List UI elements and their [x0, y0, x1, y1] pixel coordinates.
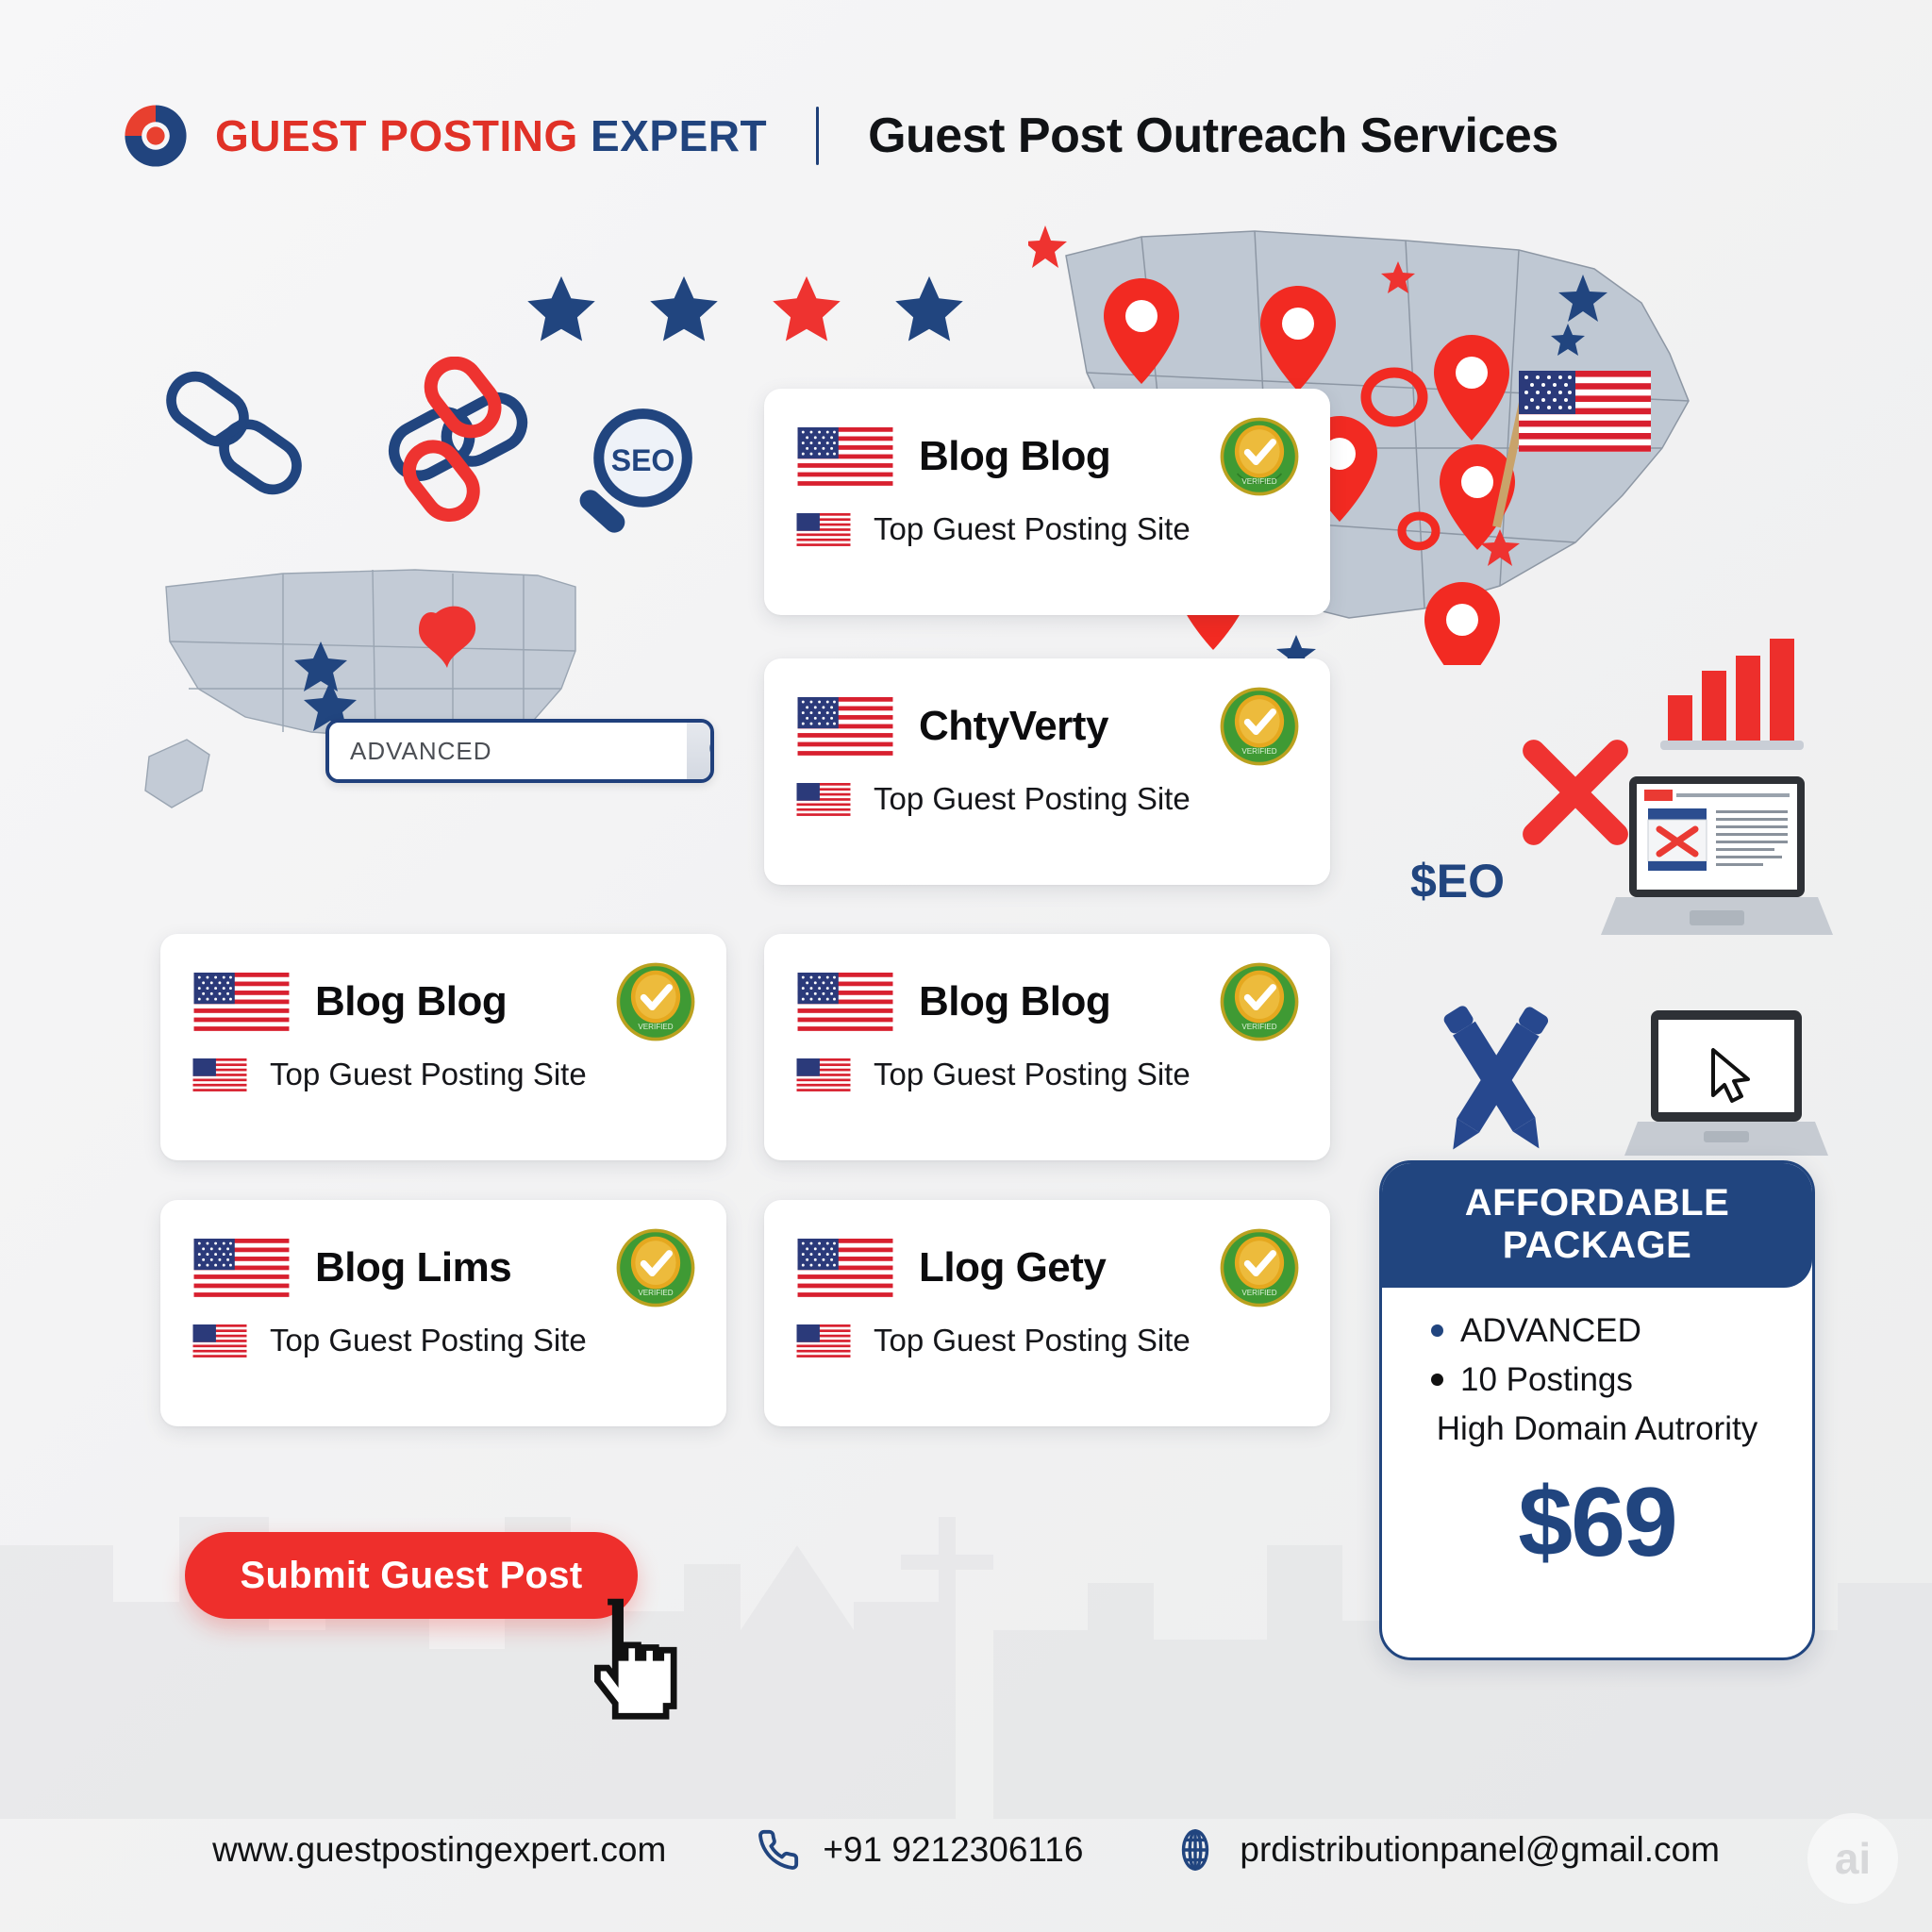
site-card-footer: Top Guest Posting Site	[796, 781, 1302, 817]
usa-flag-icon	[796, 1239, 894, 1297]
site-card-footer: Top Guest Posting Site	[192, 1057, 698, 1092]
star-1-icon	[525, 272, 598, 345]
brand-word-secondary: EXPERT	[591, 111, 767, 160]
laptop-cursor-icon	[1623, 1005, 1830, 1174]
usa-flag-icon	[796, 697, 894, 756]
laptop-error-icon	[1599, 769, 1835, 958]
hand-pointer-cursor-icon	[574, 1594, 677, 1726]
site-card[interactable]: Blog Blog VERIFIED Top Guest Posting Sit…	[160, 934, 726, 1160]
site-name: Blog Lims	[315, 1244, 511, 1291]
site-subtitle: Top Guest Posting Site	[874, 1323, 1191, 1358]
footer-website[interactable]: www.guestpostingexpert.com	[212, 1830, 666, 1870]
site-card-header: Blog Blog VERIFIED	[192, 958, 698, 1045]
submit-guest-post-button[interactable]: Submit Guest Post	[185, 1532, 638, 1619]
site-subtitle: Top Guest Posting Site	[874, 511, 1191, 547]
package-price: $69	[1410, 1467, 1784, 1579]
brand-wordmark: GUEST POSTING EXPERT	[215, 114, 767, 158]
verified-badge-icon: VERIFIED	[1217, 1224, 1302, 1311]
svg-text:VERIFIED: VERIFIED	[1241, 747, 1276, 756]
page-title: Guest Post Outreach Services	[868, 108, 1558, 164]
footer-phone[interactable]: +91 9212306116	[757, 1826, 1083, 1874]
site-name: ChtyVerty	[919, 703, 1108, 750]
site-card-footer: Top Guest Posting Site	[796, 511, 1302, 547]
usa-flag-small-icon	[192, 1324, 247, 1357]
phone-icon	[757, 1826, 800, 1874]
site-subtitle: Top Guest Posting Site	[874, 1057, 1191, 1092]
package-heading-line2: PACKAGE	[1397, 1224, 1797, 1267]
usa-flag-small-icon	[796, 783, 851, 816]
search-icon	[706, 729, 714, 773]
site-card-header: Blog Lims VERIFIED	[192, 1224, 698, 1311]
target-circle-logo-icon	[121, 101, 191, 171]
advanced-search-bar[interactable]	[325, 719, 714, 783]
usa-map-left	[132, 538, 698, 896]
package-body: ADVANCED 10 Postings High Domain Autrori…	[1382, 1288, 1812, 1579]
verified-badge-icon: VERIFIED	[1217, 958, 1302, 1045]
site-subtitle: Top Guest Posting Site	[270, 1057, 587, 1092]
package-feature-item: 10 Postings	[1410, 1361, 1784, 1399]
phone-text: +91 9212306116	[823, 1830, 1083, 1870]
package-feature-label: ADVANCED	[1460, 1312, 1641, 1350]
header-divider	[816, 107, 819, 165]
verified-badge-icon: VERIFIED	[1217, 413, 1302, 500]
svg-text:VERIFIED: VERIFIED	[1241, 1023, 1276, 1031]
site-card-header: Blog Blog VERIFIED	[796, 958, 1302, 1045]
package-feature-list: ADVANCED 10 Postings	[1410, 1312, 1784, 1399]
globe-icon	[1174, 1826, 1217, 1874]
star-2-icon	[647, 272, 721, 345]
crossed-pens-icon	[1406, 986, 1585, 1174]
site-subtitle: Top Guest Posting Site	[270, 1323, 587, 1358]
brand-word-primary: GUEST POSTING	[215, 111, 578, 160]
usa-flag-small-icon	[796, 1058, 851, 1091]
verified-badge-icon: VERIFIED	[613, 1224, 698, 1311]
star-4-icon	[892, 272, 966, 345]
bullet-icon	[1431, 1324, 1443, 1337]
site-card[interactable]: Blog Lims VERIFIED Top Guest Posting Sit…	[160, 1200, 726, 1426]
site-card-footer: Top Guest Posting Site	[192, 1323, 698, 1358]
bar-chart-icon	[1660, 627, 1821, 750]
package-note: High Domain Autrority	[1410, 1410, 1784, 1448]
svg-text:VERIFIED: VERIFIED	[638, 1023, 673, 1031]
site-card[interactable]: Blog Blog VERIFIED Top Guest Posting Sit…	[764, 934, 1330, 1160]
site-name: Blog Blog	[919, 433, 1110, 480]
page-footer: www.guestpostingexpert.com +91 921230611…	[0, 1826, 1932, 1874]
usa-flag-small-icon	[796, 513, 851, 546]
package-heading: AFFORDABLE PACKAGE	[1382, 1163, 1812, 1288]
site-card-header: Blog Blog VERIFIED	[796, 413, 1302, 500]
usa-flag-icon	[192, 1239, 291, 1297]
seo-label: $EO	[1410, 854, 1505, 908]
site-subtitle: Top Guest Posting Site	[874, 781, 1191, 817]
site-card[interactable]: Llog Gety VERIFIED Top Guest Posting Sit…	[764, 1200, 1330, 1426]
email-text: prdistributionpanel@gmail.com	[1240, 1830, 1720, 1870]
footer-email[interactable]: prdistributionpanel@gmail.com	[1174, 1826, 1720, 1874]
site-name: Blog Blog	[919, 978, 1110, 1025]
site-name: Blog Blog	[315, 978, 507, 1025]
verified-badge-icon: VERIFIED	[613, 958, 698, 1045]
svg-text:VERIFIED: VERIFIED	[638, 1289, 673, 1297]
decorative-stars	[525, 272, 966, 345]
package-heading-line1: AFFORDABLE	[1397, 1182, 1797, 1224]
search-button[interactable]	[687, 723, 714, 779]
svg-text:VERIFIED: VERIFIED	[1241, 477, 1276, 486]
usa-flag-icon	[796, 427, 894, 486]
site-card-footer: Top Guest Posting Site	[796, 1057, 1302, 1092]
page-header: GUEST POSTING EXPERT Guest Post Outreach…	[121, 92, 1558, 179]
site-card[interactable]: Blog Blog VERIFIED Top Guest Posting Sit…	[764, 389, 1330, 615]
chain-link-icon	[158, 366, 309, 508]
usa-flag-small-icon	[796, 1324, 851, 1357]
site-card-header: ChtyVerty VERIFIED	[796, 683, 1302, 770]
seo-magnifier-icon: SEO	[564, 406, 696, 557]
usa-flag-small-icon	[192, 1058, 247, 1091]
site-card[interactable]: ChtyVerty VERIFIED Top Guest Posting Sit…	[764, 658, 1330, 885]
svg-text:SEO: SEO	[611, 443, 675, 477]
star-3-icon	[770, 272, 843, 345]
svg-text:VERIFIED: VERIFIED	[1241, 1289, 1276, 1297]
verified-badge-icon: VERIFIED	[1217, 683, 1302, 770]
site-name: Llog Gety	[919, 1244, 1106, 1291]
ai-watermark: ai	[1807, 1813, 1898, 1904]
website-text: www.guestpostingexpert.com	[212, 1830, 666, 1870]
package-feature-label: 10 Postings	[1460, 1361, 1633, 1399]
site-card-header: Llog Gety VERIFIED	[796, 1224, 1302, 1311]
usa-flag-icon	[192, 973, 291, 1031]
search-input[interactable]	[329, 723, 687, 779]
bullet-icon	[1431, 1374, 1443, 1386]
chain-link-red-icon	[375, 357, 531, 536]
site-card-footer: Top Guest Posting Site	[796, 1323, 1302, 1358]
package-feature-item: ADVANCED	[1410, 1312, 1784, 1350]
affordable-package-card: AFFORDABLE PACKAGE ADVANCED 10 Postings …	[1379, 1160, 1815, 1660]
usa-flag-icon	[796, 973, 894, 1031]
